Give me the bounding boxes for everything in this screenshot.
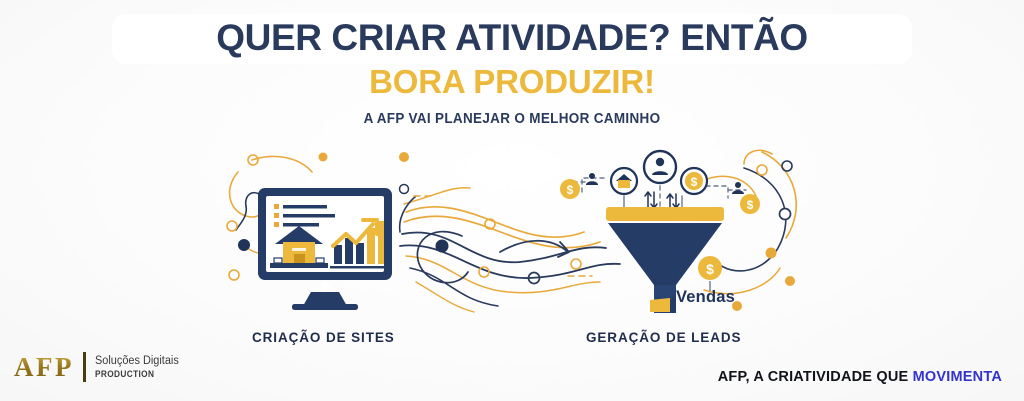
growth-arrow-icon: [333, 220, 377, 246]
logo-divider: [83, 352, 86, 382]
svg-text:$: $: [706, 261, 714, 277]
caption-criacao-de-sites: CRIAÇÃO DE SITES: [252, 330, 395, 345]
logo-tagline-primary: Soluções Digitais: [95, 355, 179, 368]
bar-chart-icon: [330, 220, 388, 269]
footer-tagline-prefix: AFP, A CRIATIVIDADE QUE: [718, 369, 913, 385]
page-title: QUER CRIAR ATIVIDADE? ENTÃO: [0, 16, 1024, 60]
header-tagline: A AFP VAI PLANEJAR O MELHOR CAMINHO: [36, 110, 988, 128]
footer-tagline: AFP, A CRIATIVIDADE QUE MOVIMENTA: [718, 369, 1002, 385]
svg-text:$: $: [567, 183, 574, 197]
logo-tagline-secondary: PRODUCTION: [95, 369, 176, 380]
footer-tagline-accent: MOVIMENTA: [913, 369, 1002, 385]
dollar-coin-icon: $: [681, 168, 707, 194]
text-lines-icon: [274, 204, 335, 227]
center-flow-curves: [400, 185, 621, 313]
small-person-right-icon: [732, 182, 744, 194]
left-decor-curves: [227, 152, 409, 280]
person-icon: [644, 151, 676, 183]
small-person-left-icon: [586, 173, 598, 185]
coin-bottom-icon: $: [698, 256, 722, 291]
right-decor-curves: [700, 150, 796, 311]
funnel-input-diagram: [567, 178, 746, 210]
funnel-node-icons: $ $ $ $: [560, 151, 760, 291]
coin-right-icon: $: [740, 194, 760, 214]
afp-logo: AFP Soluções Digitais PRODUCTION: [14, 352, 183, 382]
svg-text:$: $: [747, 198, 754, 212]
monitor-icon: [258, 188, 392, 310]
house-circle-icon: [611, 168, 637, 194]
marketing-banner: $ $ $ $ QU: [0, 0, 1024, 401]
house-icon: [270, 226, 328, 268]
logo-subtext: Soluções Digitais PRODUCTION: [95, 355, 183, 380]
svg-text:$: $: [691, 175, 698, 189]
coin-left-icon: $: [560, 179, 580, 199]
logo-wordmark: AFP: [14, 352, 74, 382]
funnel-label-vendas: Vendas: [676, 288, 735, 307]
caption-geracao-de-leads: GERAÇÃO DE LEADS: [586, 330, 741, 345]
page-subtitle: BORA PRODUZIR!: [0, 62, 1024, 102]
